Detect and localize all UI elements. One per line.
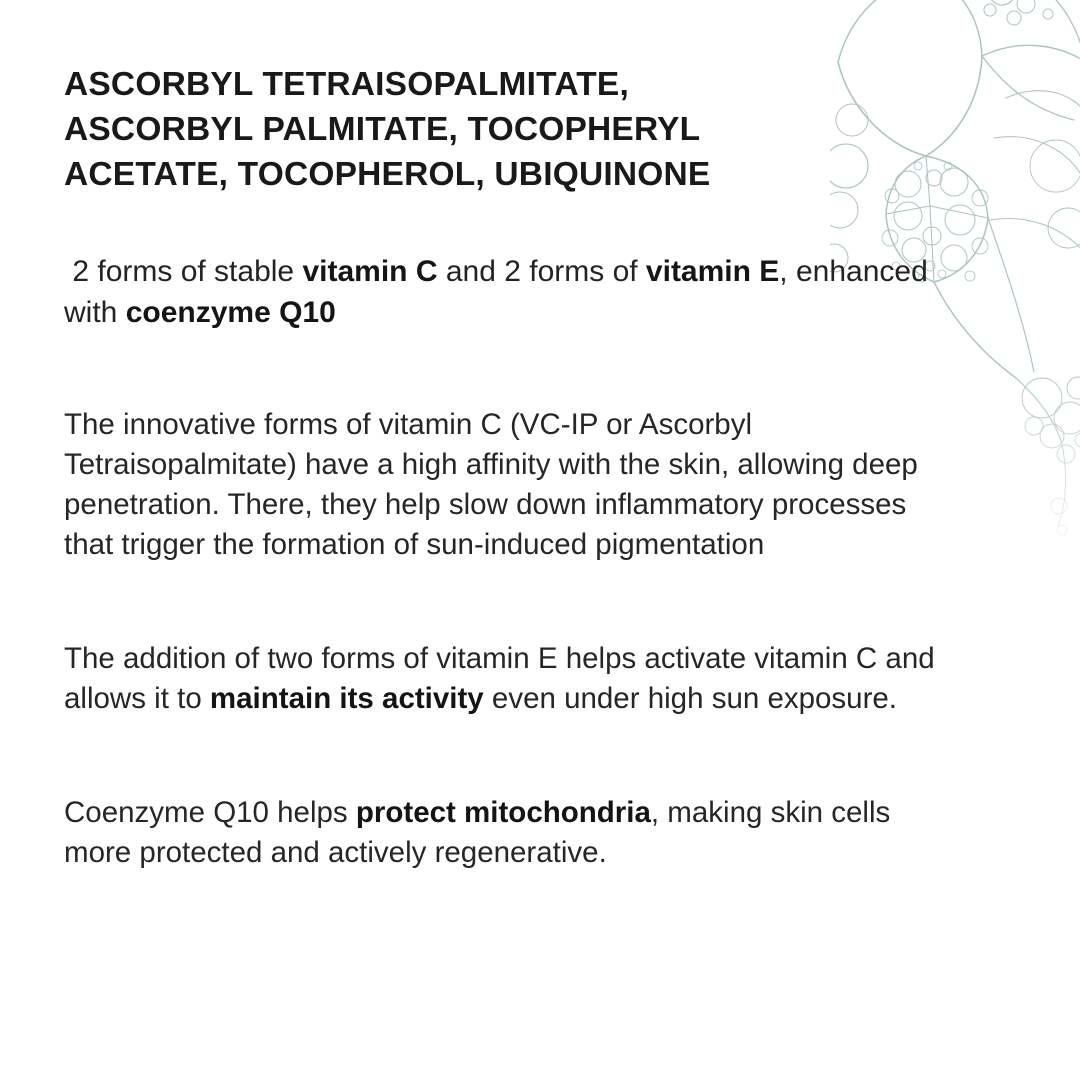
card-content: ASCORBYL TETRAISOPALMITATE, ASCORBYL PAL… xyxy=(64,62,954,873)
subtitle-summary: 2 forms of stable vitamin C and 2 forms … xyxy=(64,197,954,333)
body-paragraph-coenzyme-q10: Coenzyme Q10 helps protect mitochondria,… xyxy=(64,719,949,873)
body-paragraph-vitamin-e: The addition of two forms of vitamin E h… xyxy=(64,565,949,719)
page-title: ASCORBYL TETRAISOPALMITATE, ASCORBYL PAL… xyxy=(64,62,824,197)
ingredient-info-card: ASCORBYL TETRAISOPALMITATE, ASCORBYL PAL… xyxy=(0,0,1080,1080)
body-paragraph-vitamin-c: The innovative forms of vitamin C (VC-IP… xyxy=(64,333,939,565)
